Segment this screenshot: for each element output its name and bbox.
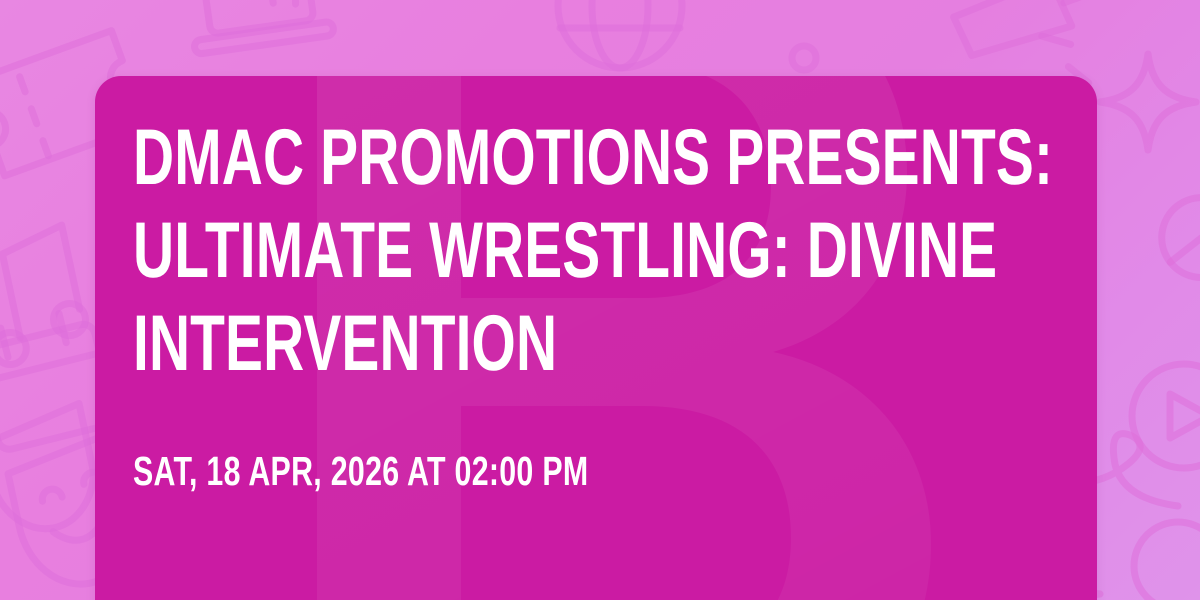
confetti-dot-icon — [792, 46, 816, 70]
music-note-icon — [0, 224, 92, 367]
event-title: DMAC Promotions presents: Ultimate Wrest… — [133, 110, 1091, 389]
sparkle-icon — [1100, 54, 1196, 150]
card-content: DMAC Promotions presents: Ultimate Wrest… — [95, 76, 1097, 493]
event-card[interactable]: DMAC Promotions presents: Ultimate Wrest… — [95, 76, 1097, 600]
play-circle-icon — [1132, 364, 1200, 468]
globe-icon — [558, 0, 682, 68]
event-date-time: Sat, 18 Apr, 2026 at 02:00 PM — [133, 389, 1021, 493]
microphone-icon — [1146, 181, 1200, 334]
event-banner: DMAC Promotions presents: Ultimate Wrest… — [0, 0, 1200, 600]
laptop-icon — [183, 0, 334, 54]
